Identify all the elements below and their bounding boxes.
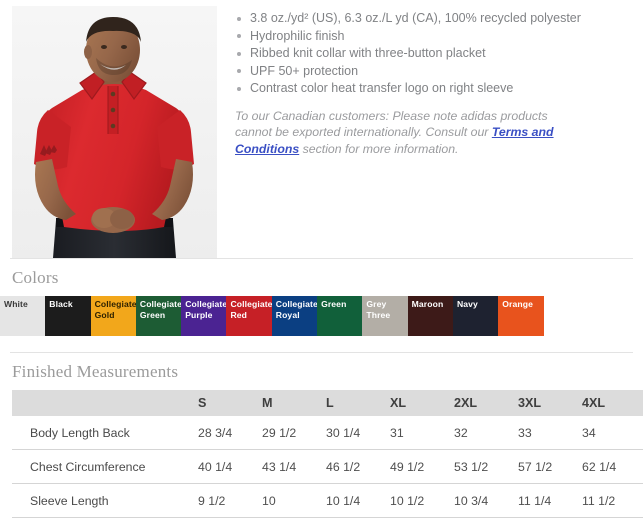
measurement-value: 30 1/4 — [326, 416, 390, 450]
color-swatch[interactable]: Orange — [498, 296, 543, 336]
table-header-row: S M L XL 2XL 3XL 4XL — [12, 390, 643, 416]
measurement-value: 53 1/2 — [454, 450, 518, 484]
color-swatch-label: Collegiate Gold — [95, 299, 135, 320]
color-swatch[interactable]: Green — [317, 296, 362, 336]
color-swatch[interactable]: Navy — [453, 296, 498, 336]
color-swatch-row: White Black Collegiate Gold Collegiate G… — [0, 296, 643, 336]
color-swatch[interactable]: Black — [45, 296, 90, 336]
feature-item: 3.8 oz./yd² (US), 6.3 oz./L yd (CA), 100… — [235, 10, 631, 27]
feature-item: UPF 50+ protection — [235, 63, 631, 80]
measurement-value: 33 — [518, 416, 582, 450]
measurement-value: 49 1/2 — [390, 450, 454, 484]
measurements-table-wrap: S M L XL 2XL 3XL 4XL Body Length Back 28… — [0, 390, 643, 518]
table-row: Sleeve Length 9 1/2 10 10 1/4 10 1/2 10 … — [12, 484, 643, 518]
color-swatch[interactable]: Collegiate Purple — [181, 296, 226, 336]
product-image[interactable] — [12, 6, 217, 258]
product-photo-illustration — [12, 6, 217, 258]
measurement-value: 57 1/2 — [518, 450, 582, 484]
color-swatch-label: Collegiate Green — [140, 299, 180, 320]
table-header-cell: XL — [390, 390, 454, 416]
feature-list: 3.8 oz./yd² (US), 6.3 oz./L yd (CA), 100… — [235, 10, 631, 97]
measurement-value: 10 1/2 — [390, 484, 454, 518]
measurement-label: Chest Circumference — [12, 450, 198, 484]
measurement-value: 11 1/4 — [518, 484, 582, 518]
color-swatch[interactable]: Collegiate Green — [136, 296, 181, 336]
finished-measurements-table: S M L XL 2XL 3XL 4XL Body Length Back 28… — [12, 390, 643, 518]
color-swatch-label: Black — [49, 299, 89, 310]
feature-item: Ribbed knit collar with three-button pla… — [235, 45, 631, 62]
table-row: Body Length Back 28 3/4 29 1/2 30 1/4 31… — [12, 416, 643, 450]
product-overview: 3.8 oz./yd² (US), 6.3 oz./L yd (CA), 100… — [0, 0, 643, 258]
table-header-cell: S — [198, 390, 262, 416]
color-swatch-label: Navy — [457, 299, 497, 310]
color-swatch-label: Collegiate Purple — [185, 299, 225, 320]
canadian-customers-note: To our Canadian customers: Please note a… — [235, 108, 568, 158]
color-swatch[interactable]: White — [0, 296, 45, 336]
measurement-value: 10 1/4 — [326, 484, 390, 518]
measurement-value: 43 1/4 — [262, 450, 326, 484]
color-swatch-label: Orange — [502, 299, 542, 310]
table-header-cell — [12, 390, 198, 416]
color-swatch-label: Maroon — [412, 299, 452, 310]
product-details: 3.8 oz./yd² (US), 6.3 oz./L yd (CA), 100… — [217, 6, 643, 169]
table-header-cell: 4XL — [582, 390, 643, 416]
measurement-value: 32 — [454, 416, 518, 450]
measurement-value: 34 — [582, 416, 643, 450]
measurements-section-title: Finished Measurements — [0, 353, 643, 390]
measurement-value: 11 1/2 — [582, 484, 643, 518]
note-text-after-link: section for more information. — [299, 142, 458, 156]
measurement-value: 40 1/4 — [198, 450, 262, 484]
measurement-value: 62 1/4 — [582, 450, 643, 484]
color-swatch-label: White — [4, 299, 44, 310]
measurement-value: 28 3/4 — [198, 416, 262, 450]
measurement-value: 9 1/2 — [198, 484, 262, 518]
table-row: Chest Circumference 40 1/4 43 1/4 46 1/2… — [12, 450, 643, 484]
feature-item: Hydrophilic finish — [235, 28, 631, 45]
measurement-label: Body Length Back — [12, 416, 198, 450]
measurement-value: 31 — [390, 416, 454, 450]
color-swatch-label: Green — [321, 299, 361, 310]
measurement-value: 29 1/2 — [262, 416, 326, 450]
color-swatch-label: Collegiate Royal — [276, 299, 316, 320]
measurement-label: Sleeve Length — [12, 484, 198, 518]
color-swatch[interactable]: Collegiate Red — [226, 296, 271, 336]
color-swatch[interactable]: Grey Three — [362, 296, 407, 336]
measurement-value: 46 1/2 — [326, 450, 390, 484]
colors-section-title: Colors — [0, 259, 643, 296]
table-header-cell: 3XL — [518, 390, 582, 416]
color-swatch-label: Collegiate Red — [230, 299, 270, 320]
color-swatch[interactable]: Maroon — [408, 296, 453, 336]
table-header-cell: L — [326, 390, 390, 416]
feature-item: Contrast color heat transfer logo on rig… — [235, 80, 631, 97]
measurement-value: 10 — [262, 484, 326, 518]
color-swatch[interactable]: Collegiate Royal — [272, 296, 317, 336]
measurement-value: 10 3/4 — [454, 484, 518, 518]
color-swatch-label: Grey Three — [366, 299, 406, 320]
table-header-cell: 2XL — [454, 390, 518, 416]
color-swatch[interactable]: Collegiate Gold — [91, 296, 136, 336]
table-header-cell: M — [262, 390, 326, 416]
